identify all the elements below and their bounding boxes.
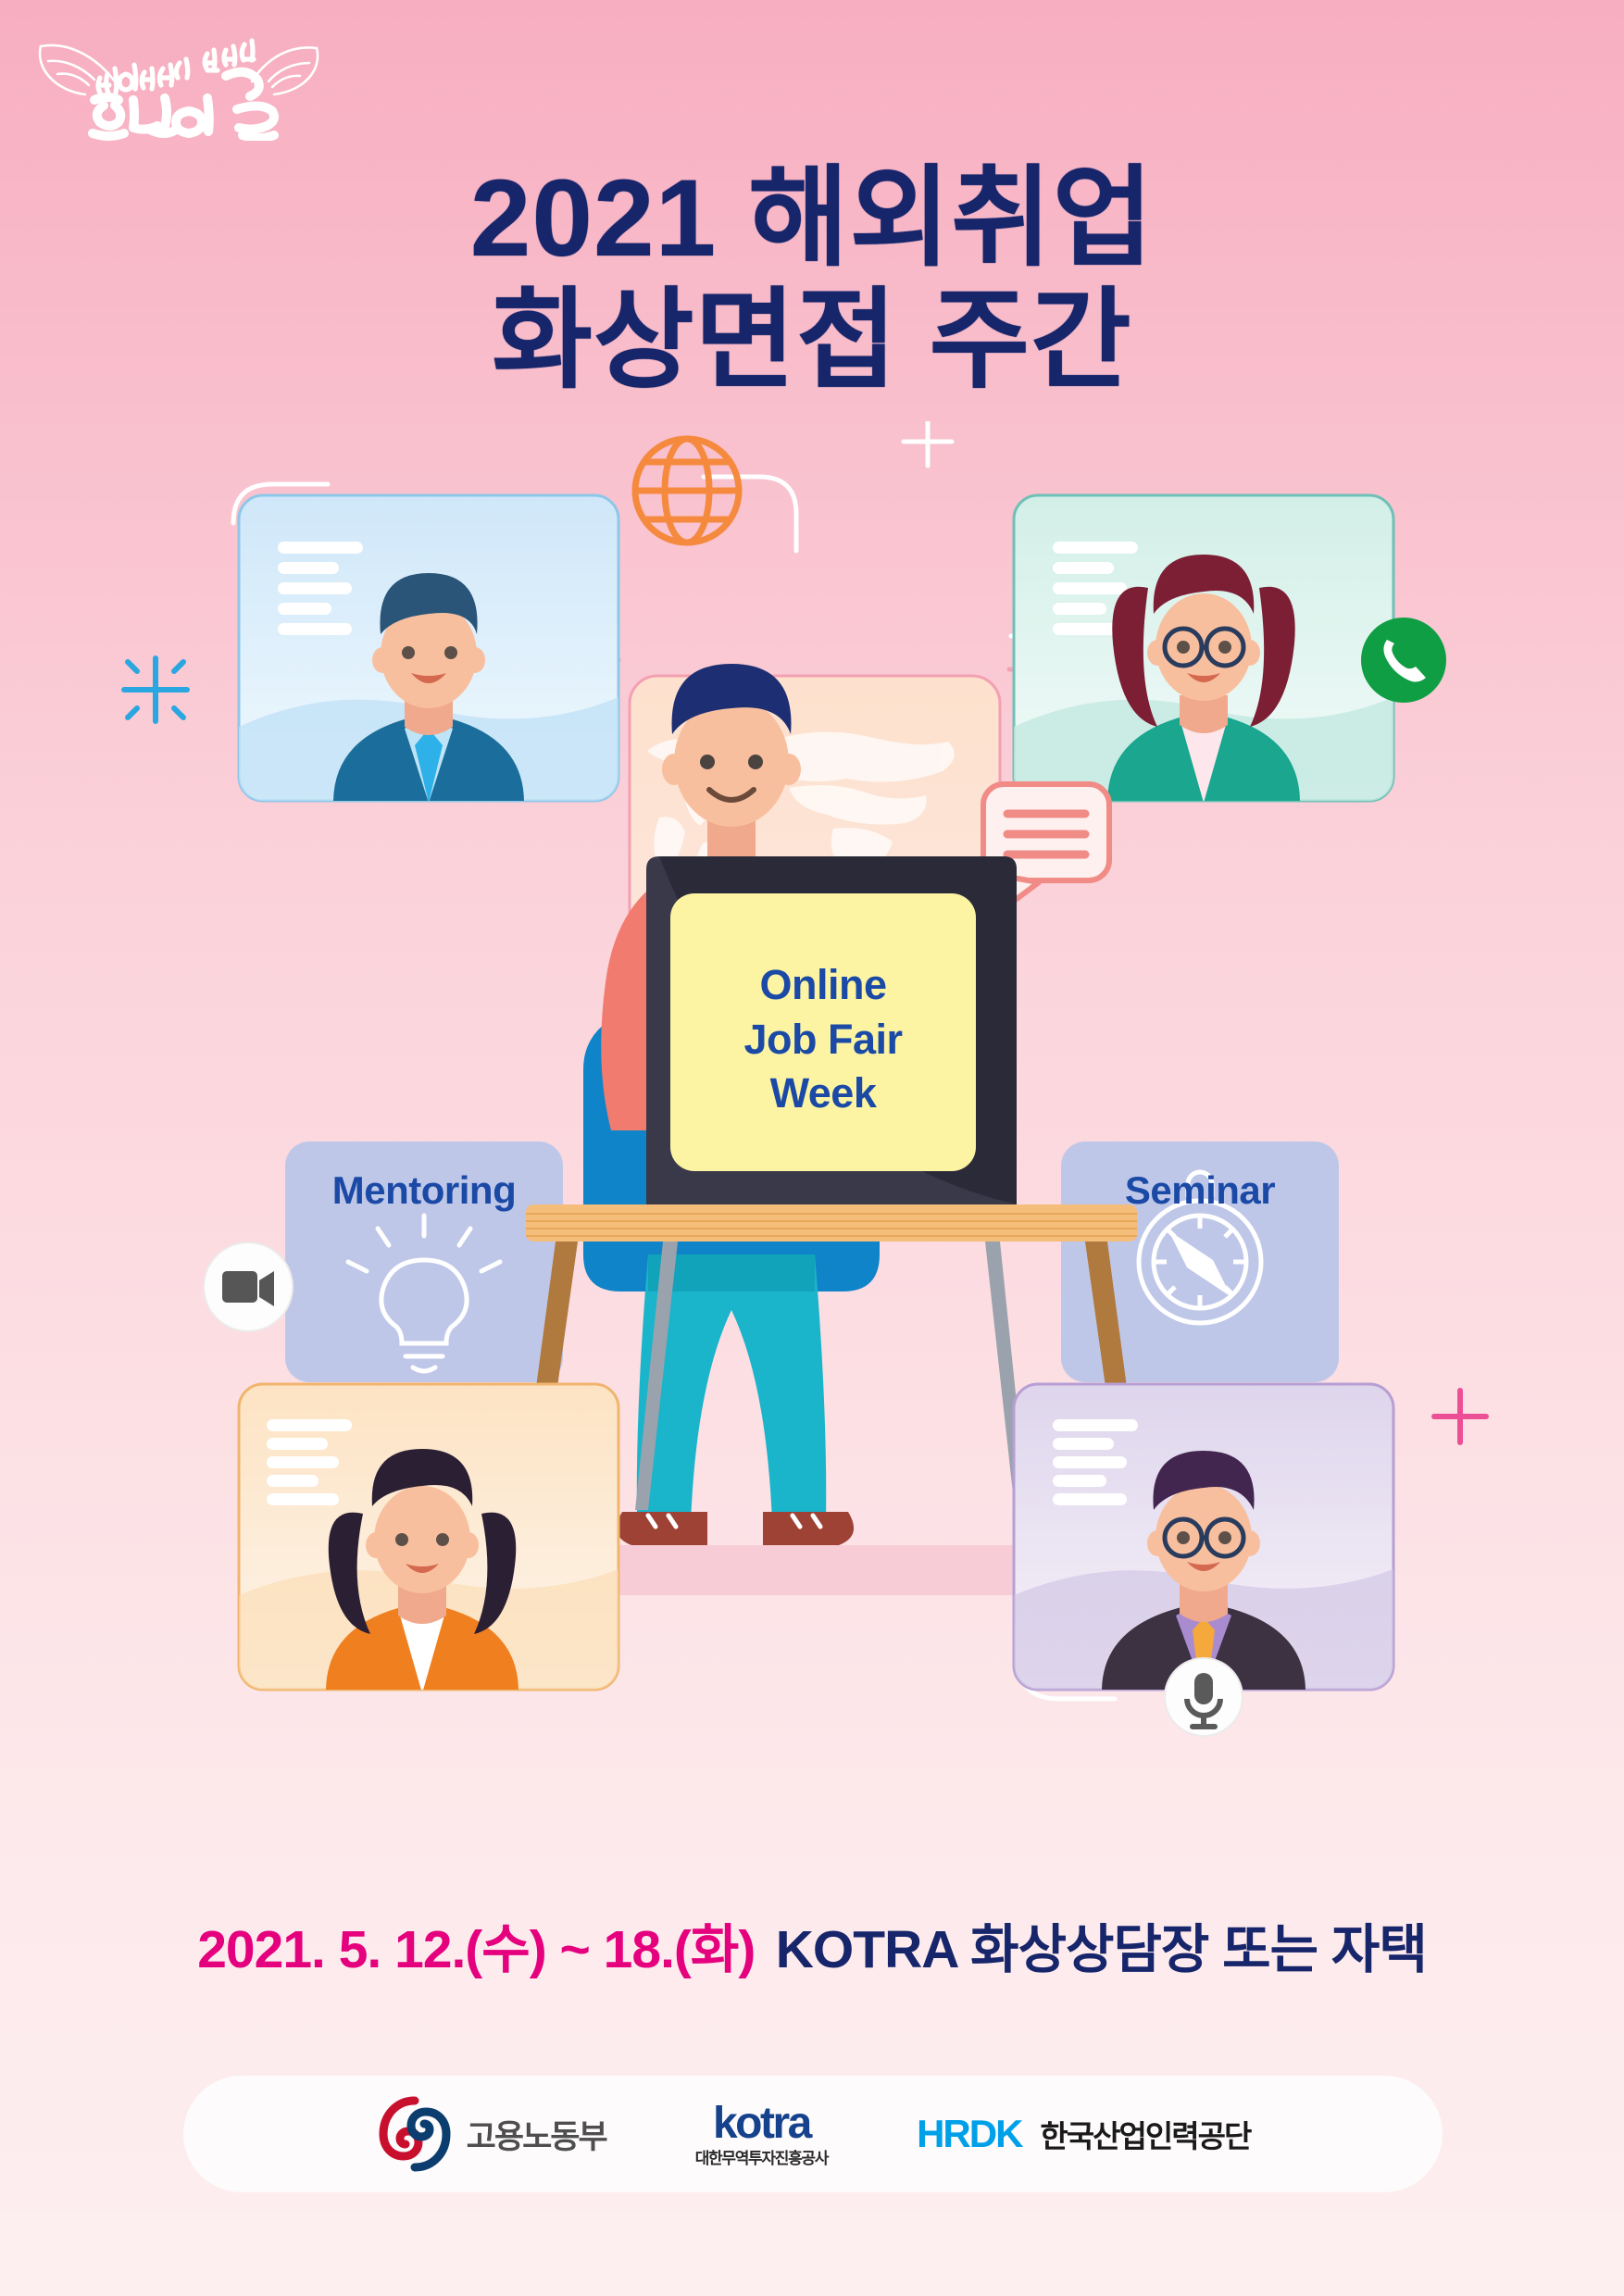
video-camera-icon[interactable] — [204, 1242, 293, 1331]
logo-molab: 고용노동부 — [376, 2095, 606, 2173]
bottom-strip — [0, 2211, 1624, 2296]
title-line-1: 2021 해외취업 — [0, 157, 1624, 280]
video-call-tile-woman-glasses — [1014, 495, 1446, 803]
event-date: 2021. 5. 12.(수) ~ 18.(화) — [197, 1920, 755, 1979]
sparkle-icon — [1434, 1391, 1486, 1442]
globe-icon — [635, 439, 739, 543]
title-line-2: 화상면접 주간 — [0, 280, 1624, 402]
yellow-card-line-3: Week — [670, 1067, 976, 1121]
yellow-card-line-1: Online — [670, 958, 976, 1013]
sparkle-icon — [124, 658, 187, 721]
brand-logo — [26, 20, 331, 141]
logo-hrdk-subtitle: 한국산업인력공단 — [1040, 2112, 1250, 2156]
event-info-line: 2021. 5. 12.(수) ~ 18.(화) KOTRA 화상상담장 또는 … — [0, 1907, 1624, 1983]
taegeuk-icon — [376, 2095, 454, 2173]
logo-kotra-label: kotra — [713, 2102, 810, 2146]
phone-icon[interactable] — [1361, 618, 1446, 703]
logo-molab-label: 고용노동부 — [467, 2111, 606, 2158]
logo-kotra-subtitle: 대한무역투자진흥공사 — [695, 2151, 828, 2166]
mentoring-label: Mentoring — [285, 1168, 563, 1213]
logo-hrdk-label: HRDK — [917, 2112, 1021, 2156]
yellow-card-line-2: Job Fair — [670, 1013, 976, 1067]
video-call-tile-man-blue-suit — [239, 495, 618, 803]
video-call-tile-man-glasses-suit — [1014, 1384, 1393, 1736]
brand-script-top — [98, 41, 254, 93]
online-job-fair-week-text: Online Job Fair Week — [670, 958, 976, 1121]
sponsor-logo-bar: 고용노동부 kotra 대한무역투자진흥공사 HRDK 한국산업인력공단 — [183, 2076, 1443, 2192]
event-place: KOTRA 화상상담장 또는 자택 — [776, 1920, 1427, 1979]
microphone-icon[interactable] — [1165, 1658, 1243, 1736]
logo-kotra: kotra 대한무역투자진흥공사 — [695, 2102, 828, 2166]
seminar-label: Seminar — [1061, 1168, 1339, 1213]
sparkle-icon — [904, 421, 952, 466]
video-call-tile-woman-orange-blazer — [239, 1384, 618, 1693]
poster-title: 2021 해외취업 화상면접 주간 — [0, 157, 1624, 402]
logo-hrdk: HRDK 한국산업인력공단 — [917, 2112, 1250, 2156]
